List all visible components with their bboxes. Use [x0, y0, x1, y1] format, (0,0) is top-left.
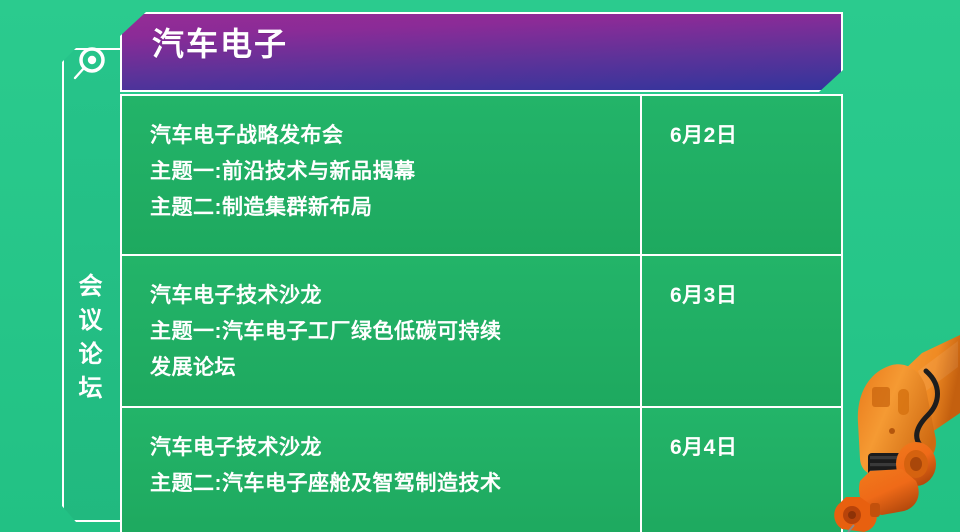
topic-line: 主题一:汽车电子工厂绿色低碳可持续 — [150, 314, 640, 350]
table-row: 汽车电子技术沙龙 主题二:汽车电子座舱及智驾制造技术 6月4日 — [122, 408, 841, 532]
sidebar-label-char-1: 议 — [62, 304, 120, 338]
target-dot-icon — [70, 44, 110, 84]
topic-line: 发展论坛 — [150, 350, 640, 386]
topic-line: 汽车电子战略发布会 — [150, 118, 640, 154]
event-date: 6月3日 — [670, 278, 841, 314]
table-cell-topic: 汽车电子战略发布会 主题一:前沿技术与新品揭幕 主题二:制造集群新布局 — [122, 96, 642, 254]
sidebar-label-char-0: 会 — [62, 270, 120, 304]
table-cell-date: 6月2日 — [642, 96, 841, 254]
table-row: 汽车电子技术沙龙 主题一:汽车电子工厂绿色低碳可持续 发展论坛 6月3日 — [122, 256, 841, 408]
sidebar-vertical-label: 会 议 论 坛 — [62, 270, 120, 406]
event-date: 6月4日 — [670, 430, 841, 466]
topic-line: 主题二:制造集群新布局 — [150, 190, 640, 226]
table-cell-topic: 汽车电子技术沙龙 主题一:汽车电子工厂绿色低碳可持续 发展论坛 — [122, 256, 642, 406]
table-cell-date: 6月3日 — [642, 256, 841, 406]
schedule-table: 汽车电子战略发布会 主题一:前沿技术与新品揭幕 主题二:制造集群新布局 6月2日… — [120, 94, 843, 532]
sidebar-label-char-2: 论 — [62, 338, 120, 372]
table-row: 汽车电子战略发布会 主题一:前沿技术与新品揭幕 主题二:制造集群新布局 6月2日 — [122, 96, 841, 256]
topic-line: 主题二:汽车电子座舱及智驾制造技术 — [150, 466, 640, 502]
sidebar-label-char-3: 坛 — [62, 372, 120, 406]
page-title: 汽车电子 — [152, 28, 288, 60]
topic-line: 汽车电子技术沙龙 — [150, 278, 640, 314]
event-date: 6月2日 — [670, 118, 841, 154]
topic-line: 汽车电子技术沙龙 — [150, 430, 640, 466]
table-cell-date: 6月4日 — [642, 408, 841, 532]
table-cell-topic: 汽车电子技术沙龙 主题二:汽车电子座舱及智驾制造技术 — [122, 408, 642, 532]
topic-line: 主题一:前沿技术与新品揭幕 — [150, 154, 640, 190]
